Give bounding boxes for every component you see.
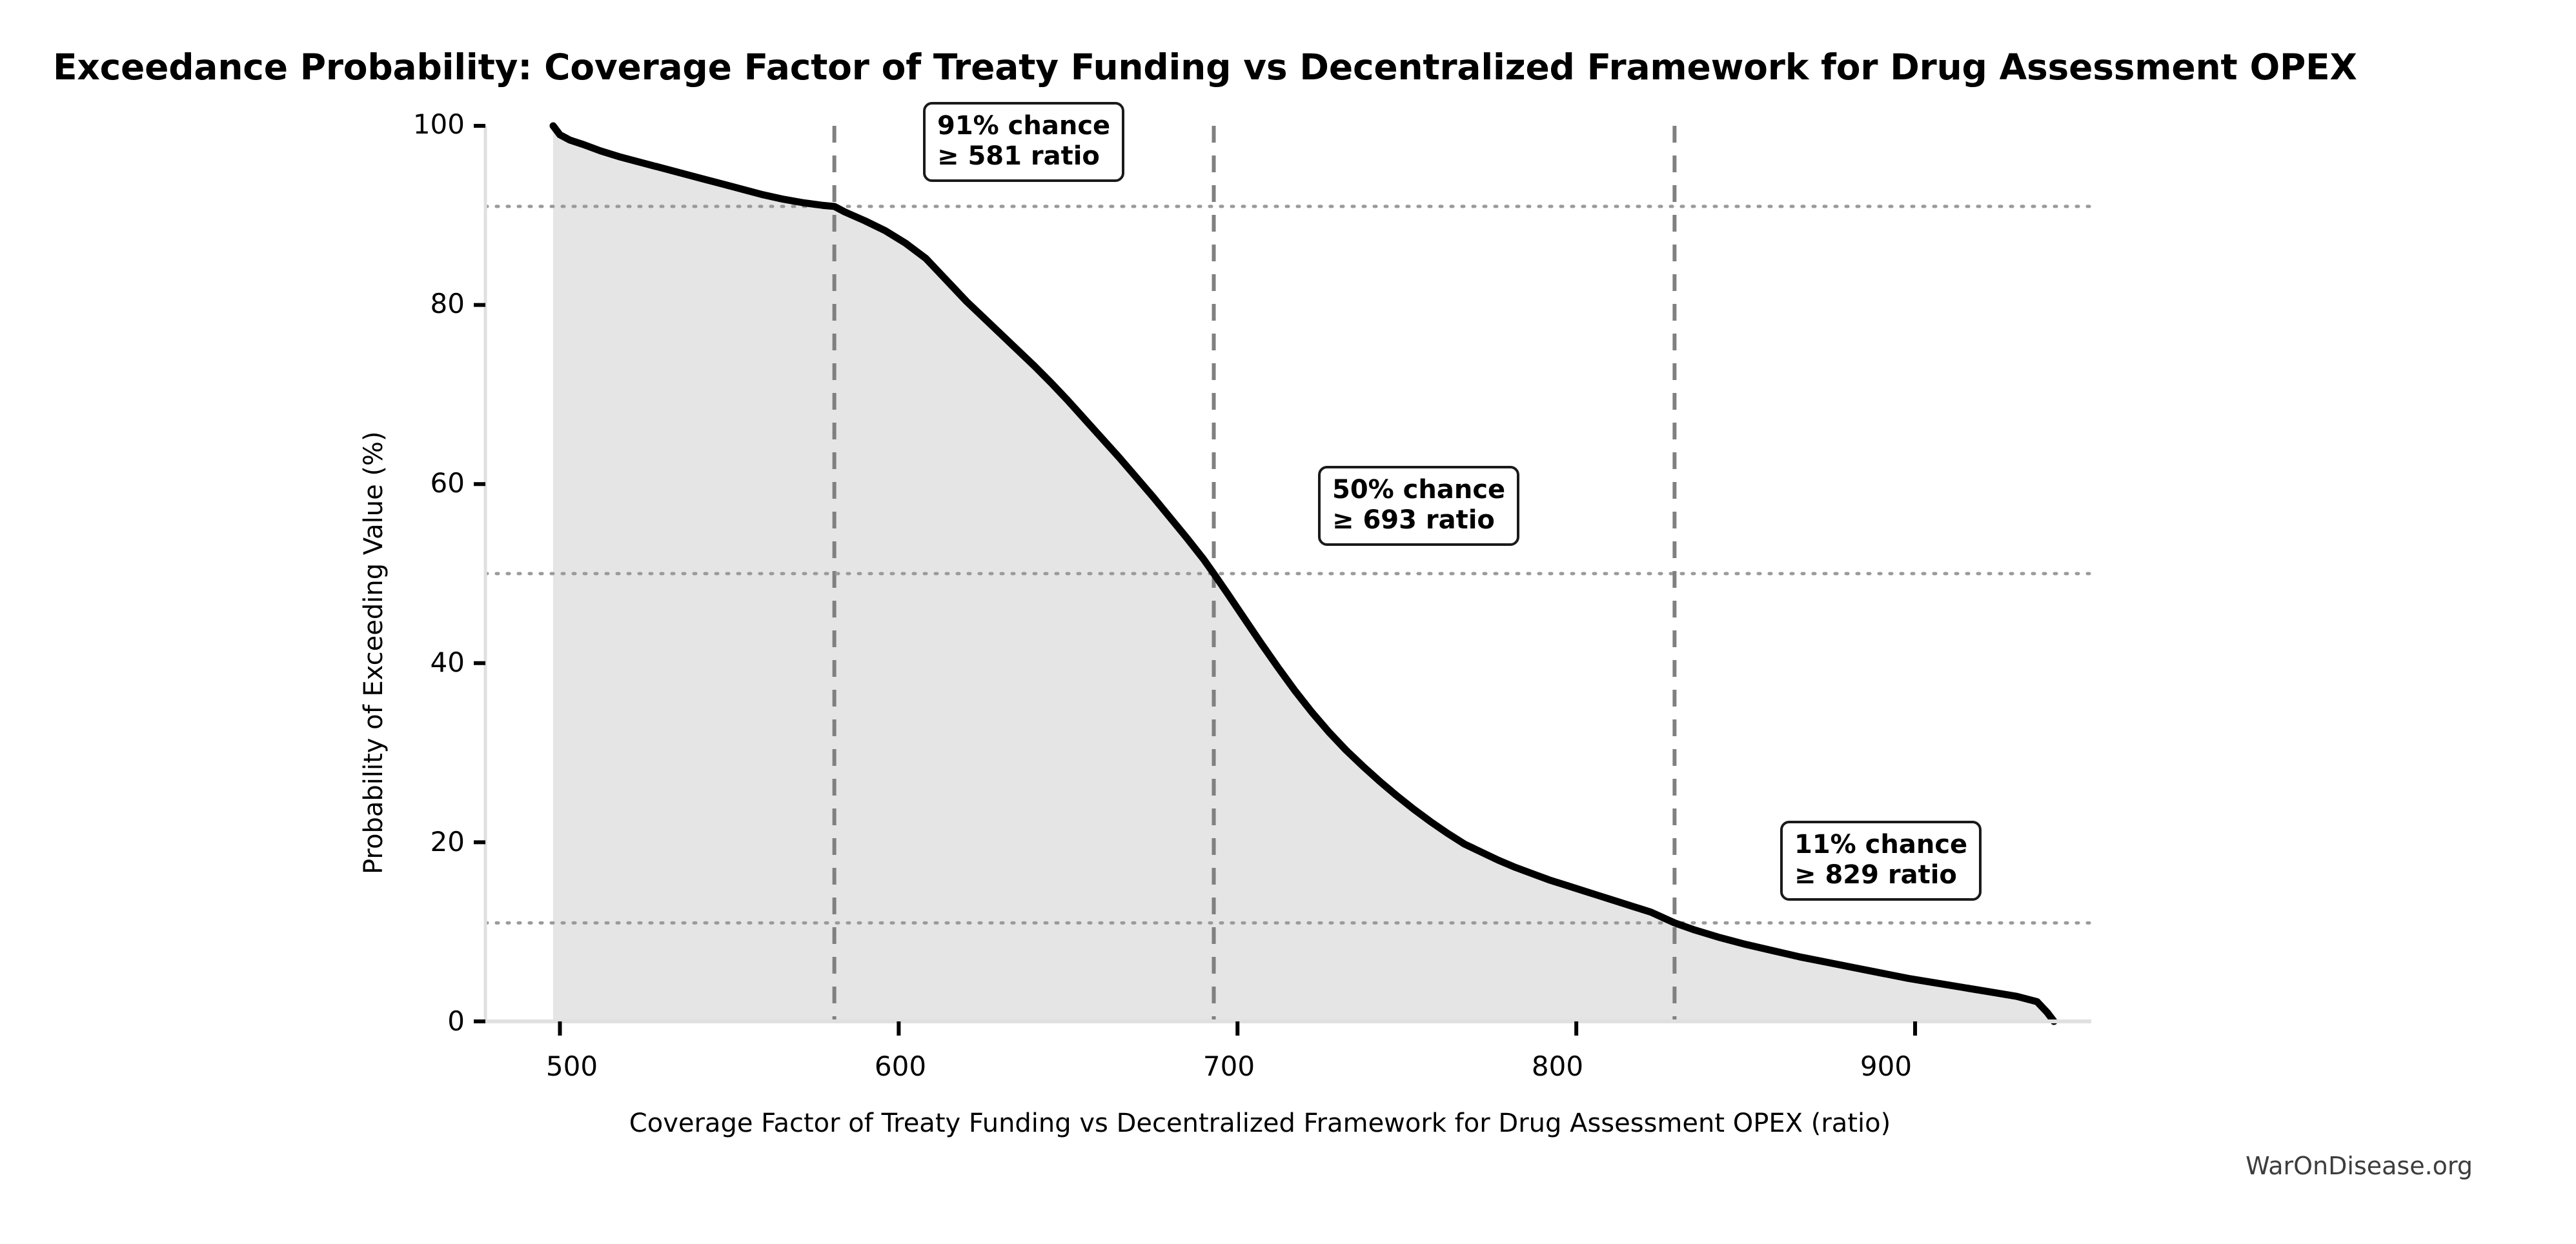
watermark: WarOnDisease.org — [2246, 1152, 2473, 1180]
x-tick-label-900: 900 — [1834, 1050, 1938, 1082]
x-tick-label-600: 600 — [849, 1050, 952, 1082]
y-tick-label-0: 0 — [387, 1005, 465, 1037]
annotation-11-line1: 11% chance — [1794, 830, 1967, 859]
annotation-91-percent: 91% chance ≥ 581 ratio — [923, 102, 1124, 182]
y-tick-label-60: 60 — [387, 467, 465, 499]
y-tick-label-80: 80 — [387, 288, 465, 319]
annotation-91-line2: ≥ 581 ratio — [937, 141, 1110, 172]
y-axis-label: Probability of Exceeding Value (%) — [359, 431, 389, 874]
annotation-50-percent: 50% chance ≥ 693 ratio — [1318, 466, 1519, 546]
y-tick-label-40: 40 — [387, 647, 465, 678]
x-tick-label-700: 700 — [1177, 1050, 1281, 1082]
annotation-11-percent: 11% chance ≥ 829 ratio — [1780, 821, 1982, 901]
page-title: Exceedance Probability: Coverage Factor … — [53, 46, 2357, 88]
y-tick-label-20: 20 — [387, 826, 465, 858]
x-tick-label-800: 800 — [1506, 1050, 1609, 1082]
annotation-91-line1: 91% chance — [937, 111, 1110, 141]
annotation-50-line2: ≥ 693 ratio — [1332, 505, 1505, 536]
annotation-50-line1: 50% chance — [1332, 475, 1505, 505]
x-axis-label: Coverage Factor of Treaty Funding vs Dec… — [485, 1109, 2034, 1138]
x-tick-label-500: 500 — [520, 1050, 624, 1082]
chart-figure: Exceedance Probability: Coverage Factor … — [0, 0, 2576, 1244]
annotation-11-line2: ≥ 829 ratio — [1794, 860, 1967, 890]
y-tick-label-100: 100 — [387, 108, 465, 140]
